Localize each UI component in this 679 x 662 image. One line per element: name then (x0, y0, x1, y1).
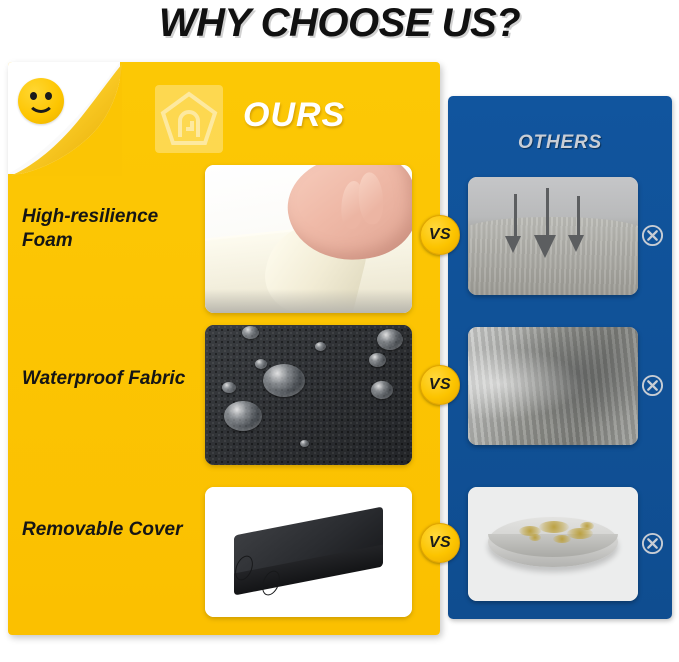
ours-image-waterproof-fabric (205, 325, 412, 465)
smiley-mouth (27, 96, 55, 113)
vs-badge-removable-cover: VS (420, 523, 460, 563)
house-pentagon-logo-icon (155, 85, 223, 153)
ours-image-removable-cover (205, 487, 412, 617)
down-arrow-icon (534, 235, 556, 258)
feature-label-high-resilience-foam: High-resilience Foam (22, 205, 197, 253)
feature-label-removable-cover: Removable Cover (22, 518, 197, 542)
vs-badge-high-resilience-foam: VS (420, 215, 460, 255)
ours-image-high-resilience-foam (205, 165, 412, 313)
others-image-absorbent-fabric (468, 327, 638, 445)
others-column-label: OTHERS (448, 132, 672, 154)
page-title: WHY CHOOSE US? (0, 0, 679, 46)
x-circle-icon (641, 532, 664, 555)
down-arrow-icon (505, 236, 521, 253)
others-image-non-removable-cover (468, 487, 638, 601)
down-arrow-icon (568, 235, 584, 252)
vs-badge-waterproof-fabric: VS (420, 365, 460, 405)
ours-column-label: OURS (243, 96, 345, 135)
feature-label-waterproof-fabric: Waterproof Fabric (22, 367, 197, 391)
x-circle-icon (641, 374, 664, 397)
x-circle-icon (641, 224, 664, 247)
why-choose-us-poster: WHY CHOOSE US? OTHERS (0, 0, 679, 662)
others-image-low-resilience-foam (468, 177, 638, 295)
smiley-face-icon (18, 78, 64, 124)
